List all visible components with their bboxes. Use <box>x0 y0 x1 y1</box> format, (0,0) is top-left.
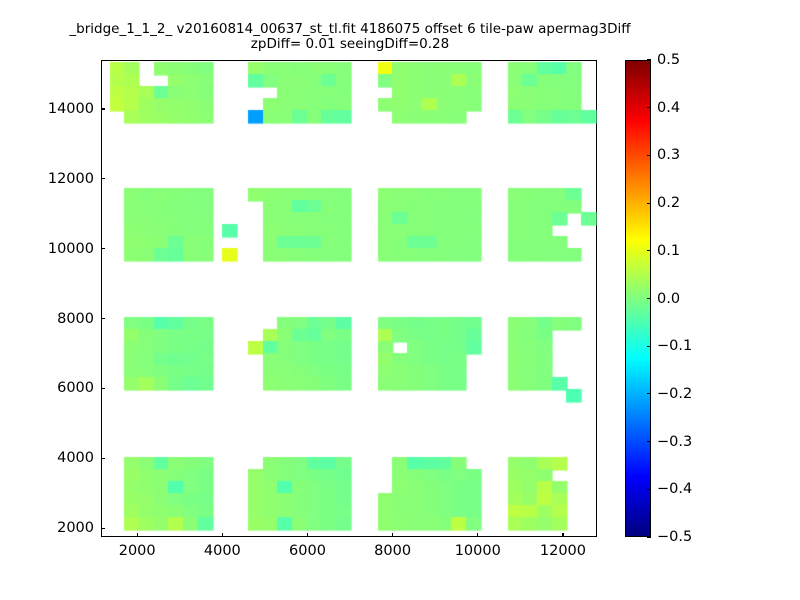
y-tick-label: 8000 <box>20 311 94 327</box>
y-tick-label: 10000 <box>20 241 94 257</box>
colorbar-tick-label: −0.1 <box>657 338 692 354</box>
colorbar-tick-label: −0.2 <box>657 386 692 402</box>
colorbar-tick-mark <box>647 536 651 537</box>
colorbar-tick-mark <box>647 298 651 299</box>
y-tick-mark <box>101 458 105 459</box>
figure-title-block: _bridge_1_1_2_ v20160814_00637_st_tl.fit… <box>0 22 700 52</box>
colorbar-tick-label: −0.3 <box>657 434 692 450</box>
figure-subtitle: zpDiff= 0.01 seeingDiff=0.28 <box>0 37 700 52</box>
colorbar-tick-mark <box>647 346 651 347</box>
x-tick-label: 8000 <box>374 543 411 559</box>
heatmap-image <box>102 61 598 538</box>
colorbar-tick-label: 0.0 <box>657 291 680 307</box>
x-tick-mark <box>392 533 393 537</box>
colorbar-tick-label: −0.5 <box>657 529 692 545</box>
y-tick-mark <box>101 178 105 179</box>
colorbar-tick-label: 0.4 <box>657 100 680 116</box>
x-tick-label: 12000 <box>540 543 586 559</box>
y-tick-label: 14000 <box>20 101 94 117</box>
figure-title: _bridge_1_1_2_ v20160814_00637_st_tl.fit… <box>0 22 700 37</box>
y-tick-mark <box>101 248 105 249</box>
colorbar-tick-mark <box>647 489 651 490</box>
x-tick-label: 10000 <box>455 543 501 559</box>
colorbar-tick-label: 0.5 <box>657 52 680 68</box>
colorbar-tick-mark <box>647 250 651 251</box>
colorbar-tick-mark <box>647 393 651 394</box>
x-tick-mark <box>562 533 563 537</box>
y-tick-mark <box>101 388 105 389</box>
colorbar-tick-mark <box>647 203 651 204</box>
colorbar-tick-mark <box>647 59 651 60</box>
colorbar-tick-label: 0.2 <box>657 195 680 211</box>
colorbar-tick-label: 0.1 <box>657 243 680 259</box>
colorbar-tick-label: −0.4 <box>657 481 692 497</box>
x-tick-label: 6000 <box>289 543 326 559</box>
y-tick-label: 6000 <box>20 380 94 396</box>
matplotlib-figure: _bridge_1_1_2_ v20160814_00637_st_tl.fit… <box>0 0 800 600</box>
y-tick-mark <box>101 528 105 529</box>
y-tick-label: 2000 <box>20 520 94 536</box>
x-tick-mark <box>222 533 223 537</box>
colorbar-tick-label: 0.3 <box>657 147 680 163</box>
y-tick-label: 4000 <box>20 450 94 466</box>
colorbar-tick-mark <box>647 155 651 156</box>
colorbar-tick-mark <box>647 441 651 442</box>
x-tick-mark <box>307 533 308 537</box>
y-tick-mark <box>101 318 105 319</box>
colorbar-tick-mark <box>647 107 651 108</box>
x-tick-label: 4000 <box>204 543 241 559</box>
y-tick-label: 12000 <box>20 171 94 187</box>
x-tick-label: 2000 <box>119 543 156 559</box>
heatmap-axes <box>101 60 597 537</box>
x-tick-mark <box>477 533 478 537</box>
y-tick-mark <box>101 108 105 109</box>
x-tick-mark <box>137 533 138 537</box>
